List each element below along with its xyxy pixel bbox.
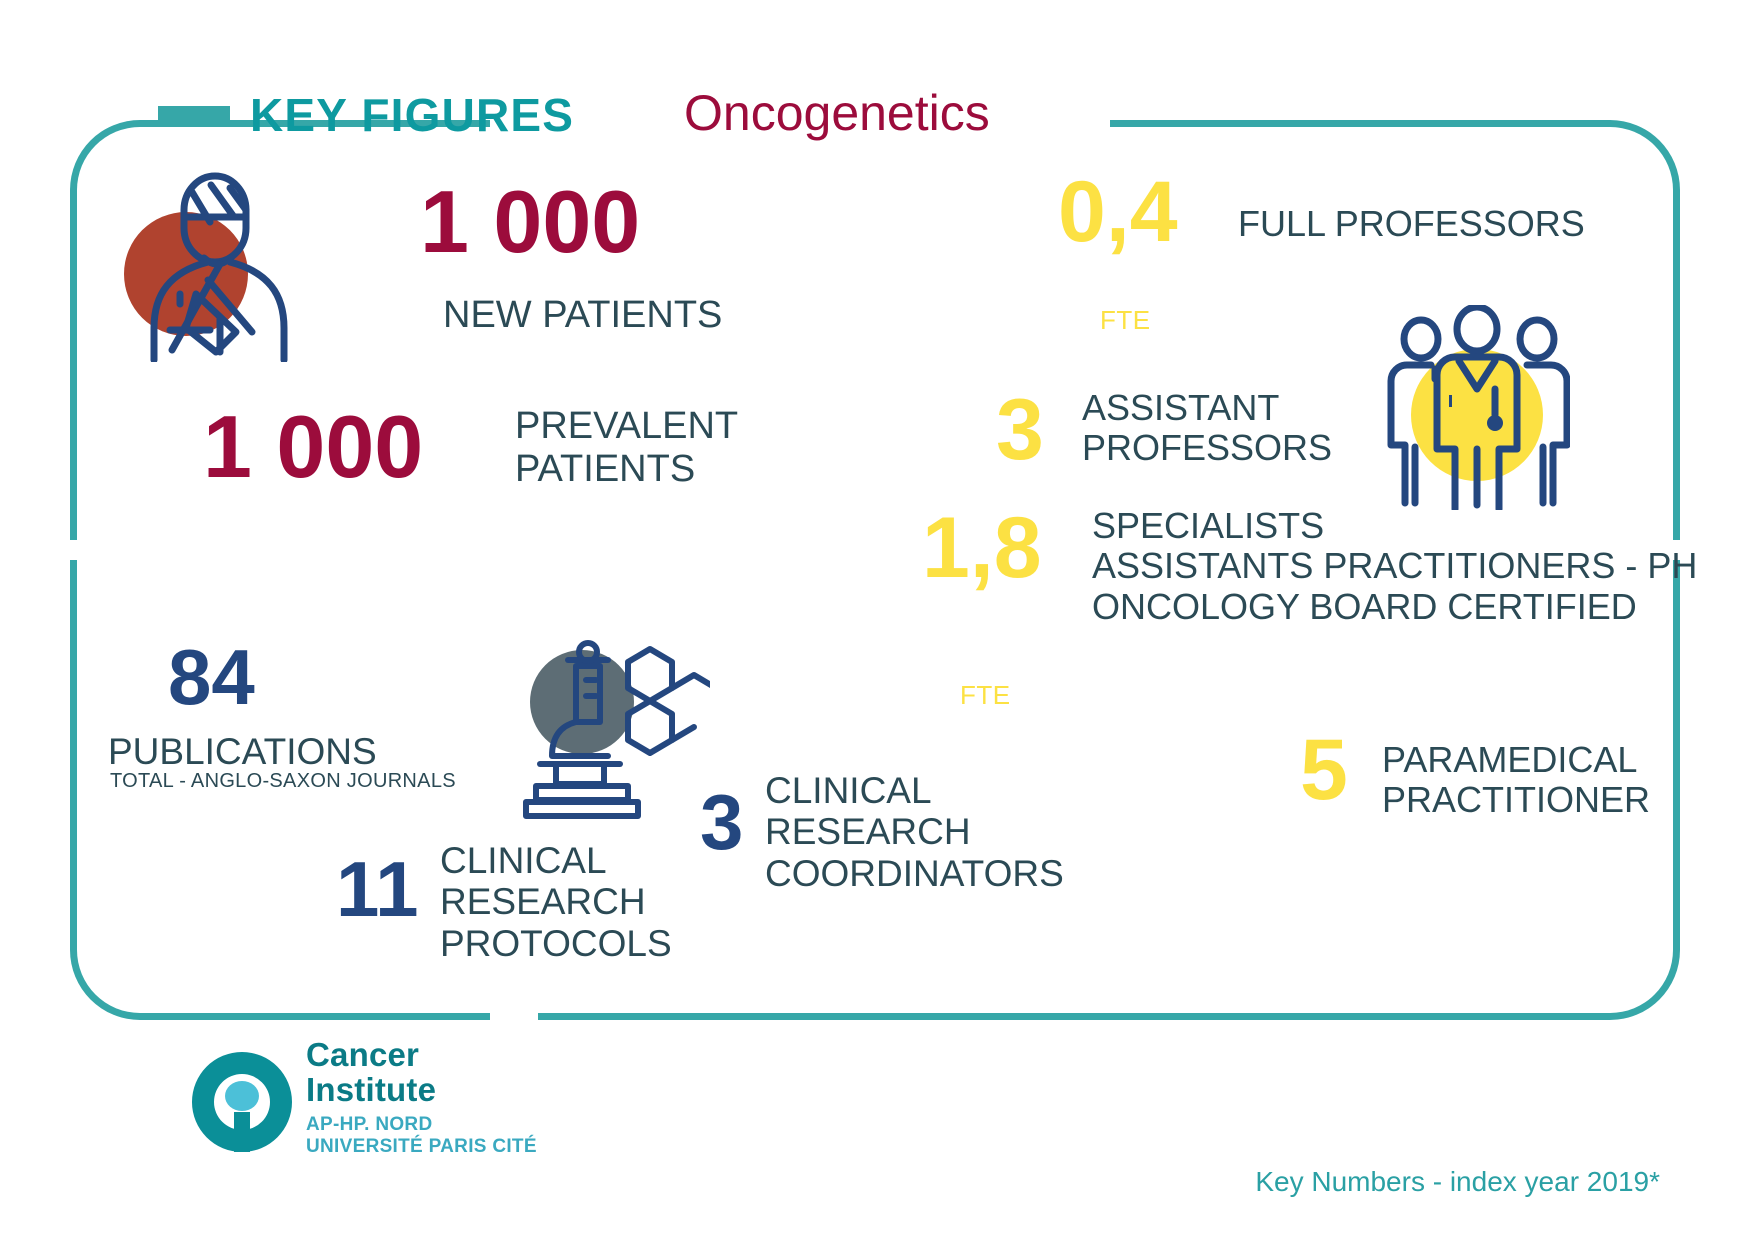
injured-patient-icon	[112, 162, 322, 362]
specialists-value: 1,8	[922, 508, 1042, 590]
publications-value: 84	[168, 640, 255, 714]
paramedical-label-line1: PARAMEDICAL	[1382, 740, 1650, 780]
infographic-canvas: KEY FIGURES Oncogenetics	[0, 0, 1748, 1240]
publications-sublabel: TOTAL - ANGLO-SAXON JOURNALS	[110, 770, 456, 792]
protocols-label-line3: PROTOCOLS	[440, 923, 672, 964]
coordinators-label-line2: RESEARCH	[765, 811, 1064, 852]
cancer-institute-logo: Cancer Institute AP-HP. NORD UNIVERSITÉ …	[186, 1036, 586, 1176]
logo-text-block: Cancer Institute AP-HP. NORD UNIVERSITÉ …	[306, 1038, 537, 1158]
prevalent-patients-label-line2: PATIENTS	[515, 448, 738, 491]
protocols-value: 11	[336, 852, 418, 926]
assistant-professors-value: 3	[996, 390, 1044, 472]
prevalent-patients-label-line1: PREVALENT	[515, 405, 738, 448]
page-title: KEY FIGURES	[250, 88, 574, 142]
coordinators-label-line1: CLINICAL	[765, 770, 1064, 811]
publications-label: PUBLICATIONS	[108, 731, 377, 772]
coordinators-value: 3	[700, 785, 743, 859]
logo-line4: UNIVERSITÉ PARIS CITÉ	[306, 1136, 537, 1158]
prevalent-patients-value: 1 000	[203, 405, 423, 489]
coordinators-label-line3: COORDINATORS	[765, 853, 1064, 894]
coordinators-label: CLINICAL RESEARCH COORDINATORS	[765, 770, 1064, 894]
specialists-unit: FTE	[960, 680, 1011, 711]
logo-line1: Cancer	[306, 1038, 537, 1073]
paramedical-label: PARAMEDICAL PRACTITIONER	[1382, 740, 1650, 821]
paramedical-value: 5	[1300, 730, 1348, 812]
frame-top-join	[1110, 120, 1126, 127]
page-subject: Oncogenetics	[684, 84, 990, 142]
protocols-label-line2: RESEARCH	[440, 881, 672, 922]
assistant-professors-label-line1: ASSISTANT	[1082, 388, 1332, 428]
microscope-icon	[520, 640, 710, 840]
assistant-professors-label-line2: PROFESSORS	[1082, 428, 1332, 468]
new-patients-label: NEW PATIENTS	[443, 294, 722, 337]
paramedical-label-line2: PRACTITIONER	[1382, 780, 1650, 820]
specialists-label-line2: ASSISTANTS PRACTITIONERS - PH	[1092, 546, 1697, 586]
full-professors-value: 0,4	[1058, 172, 1178, 254]
specialists-label-line1: SPECIALISTS	[1092, 506, 1697, 546]
cancer-institute-logo-icon	[186, 1046, 298, 1158]
dash-icon	[158, 106, 230, 123]
logo-line3: AP-HP. NORD	[306, 1114, 537, 1136]
new-patients-value: 1 000	[420, 180, 640, 264]
specialists-label-line3: ONCOLOGY BOARD CERTIFIED	[1092, 587, 1697, 627]
specialists-label: SPECIALISTS ASSISTANTS PRACTITIONERS - P…	[1092, 506, 1697, 627]
assistant-professors-label: ASSISTANT PROFESSORS	[1082, 388, 1332, 469]
full-professors-unit: FTE	[1100, 305, 1151, 336]
medical-team-icon	[1385, 305, 1570, 510]
logo-line2: Institute	[306, 1073, 537, 1108]
footer-note: Key Numbers - index year 2019*	[1255, 1166, 1660, 1198]
full-professors-label: FULL PROFESSORS	[1238, 204, 1585, 244]
protocols-label-line1: CLINICAL	[440, 840, 672, 881]
frame-bottom-line	[538, 1013, 1128, 1020]
prevalent-patients-label: PREVALENT PATIENTS	[515, 405, 738, 490]
protocols-label: CLINICAL RESEARCH PROTOCOLS	[440, 840, 672, 964]
